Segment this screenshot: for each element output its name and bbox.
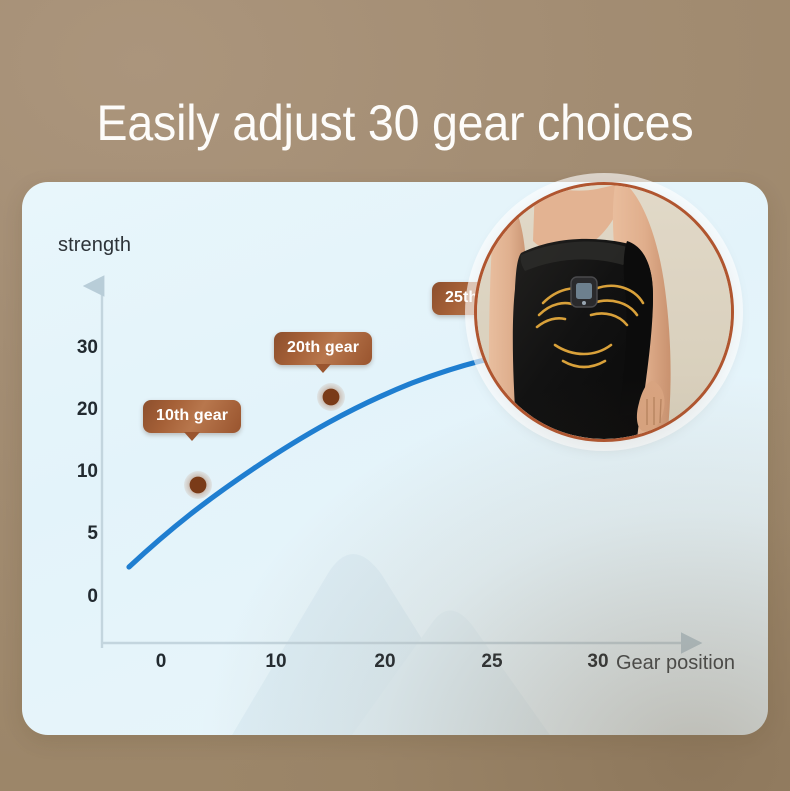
badge-10th-gear-label: 10th gear — [156, 407, 228, 424]
product-photo — [474, 182, 734, 442]
x-tick-0: 0 — [156, 651, 167, 673]
y-tick-30: 30 — [52, 337, 98, 359]
x-tick-20: 20 — [374, 651, 395, 673]
product-photo-image — [477, 185, 731, 439]
x-tick-10: 10 — [265, 651, 286, 673]
y-tick-0: 0 — [52, 586, 98, 608]
x-tick-25: 25 — [481, 651, 502, 673]
data-point-20th[interactable] — [317, 383, 345, 411]
badge-20th-gear[interactable]: 20th gear — [274, 332, 372, 365]
y-axis-ticks: 30 20 10 5 0 — [42, 182, 98, 735]
y-tick-10: 10 — [52, 461, 98, 483]
x-tick-30: 30 — [587, 651, 608, 673]
y-tick-5: 5 — [52, 523, 98, 545]
badge-10th-gear[interactable]: 10th gear — [143, 400, 241, 433]
promo-page: Easily adjust 30 gear choices — [0, 0, 790, 791]
y-tick-20: 20 — [52, 399, 98, 421]
badge-pointer-icon — [184, 432, 200, 441]
x-axis-title: Gear position — [616, 652, 735, 675]
data-point-10th[interactable] — [184, 471, 212, 499]
page-title: Easily adjust 30 gear choices — [28, 96, 763, 150]
badge-pointer-icon — [315, 364, 331, 373]
badge-20th-gear-label: 20th gear — [287, 339, 359, 356]
